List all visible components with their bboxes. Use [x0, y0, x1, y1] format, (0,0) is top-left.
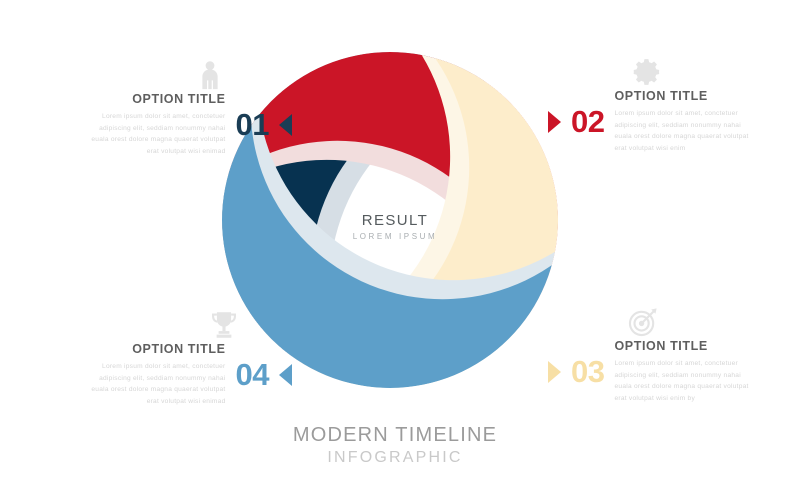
trophy-icon [207, 308, 241, 342]
option-block-03[interactable]: 03 OPTION TITLE Lorem ipsum dolor sit am… [548, 305, 790, 404]
option-03-icon-wrap [548, 305, 790, 339]
footer-main-title: MODERN TIMELINE [0, 424, 790, 447]
option-block-01[interactable]: OPTION TITLE Lorem ipsum dolor sit amet,… [0, 58, 292, 157]
option-01-number: 01 [236, 109, 269, 140]
person-icon [193, 58, 227, 92]
option-02-arrow-icon [548, 111, 561, 133]
option-04-row: OPTION TITLE Lorem ipsum dolor sit amet,… [0, 342, 292, 407]
target-icon [626, 305, 660, 339]
option-03-text: OPTION TITLE Lorem ipsum dolor sit amet,… [614, 339, 759, 404]
footer-subtitle: INFOGRAPHIC [0, 449, 790, 467]
option-02-icon-wrap [548, 55, 790, 89]
option-block-02[interactable]: 02 OPTION TITLE Lorem ipsum dolor sit am… [548, 55, 790, 154]
option-04-icon-wrap [0, 308, 374, 342]
option-04-text: OPTION TITLE Lorem ipsum dolor sit amet,… [81, 342, 226, 407]
option-02-number: 02 [571, 106, 604, 137]
option-02-title: OPTION TITLE [614, 89, 759, 103]
option-01-body: Lorem ipsum dolor sit amet, conctetuer a… [81, 111, 226, 157]
option-02-text: OPTION TITLE Lorem ipsum dolor sit amet,… [614, 89, 759, 154]
option-01-row: OPTION TITLE Lorem ipsum dolor sit amet,… [0, 92, 292, 157]
option-04-body: Lorem ipsum dolor sit amet, conctetuer a… [81, 361, 226, 407]
footer-title-block: MODERN TIMELINE INFOGRAPHIC [0, 424, 790, 467]
option-02-row: 02 OPTION TITLE Lorem ipsum dolor sit am… [548, 89, 790, 154]
option-03-number: 03 [571, 356, 604, 387]
option-01-title: OPTION TITLE [81, 92, 226, 106]
infographic-canvas: RESULT LOREM IPSUM OPTION TITLE Lorem ip… [0, 0, 790, 500]
option-04-number: 04 [236, 359, 269, 390]
option-03-title: OPTION TITLE [614, 339, 759, 353]
option-02-body: Lorem ipsum dolor sit amet, conctetuer a… [614, 108, 759, 154]
option-01-arrow-icon [279, 114, 292, 136]
option-04-arrow-icon [279, 364, 292, 386]
option-01-icon-wrap [0, 58, 360, 92]
option-03-row: 03 OPTION TITLE Lorem ipsum dolor sit am… [548, 339, 790, 404]
gear-icon [630, 55, 664, 89]
option-04-title: OPTION TITLE [81, 342, 226, 356]
option-03-body: Lorem ipsum dolor sit amet, conctetuer a… [614, 358, 759, 404]
option-03-arrow-icon [548, 361, 561, 383]
option-block-04[interactable]: OPTION TITLE Lorem ipsum dolor sit amet,… [0, 308, 292, 407]
option-01-text: OPTION TITLE Lorem ipsum dolor sit amet,… [81, 92, 226, 157]
